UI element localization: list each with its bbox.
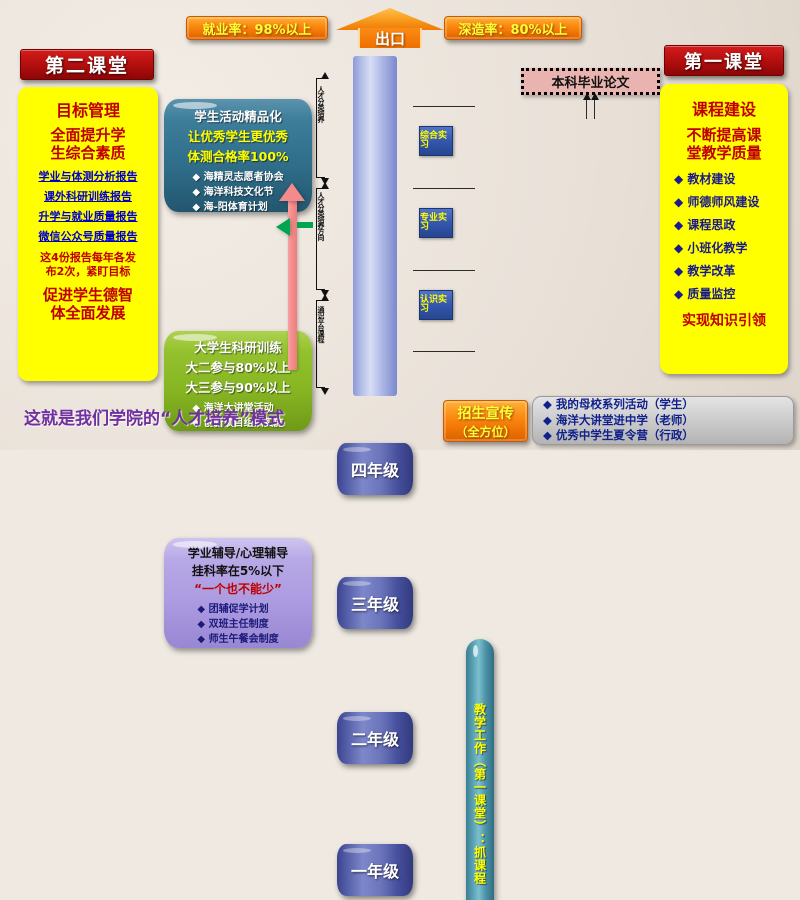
goal-panel-title: 目标管理 [56, 97, 120, 121]
counseling-head-1: 学业辅导/心理辅导 [188, 544, 288, 561]
pink-up-arrow-icon [279, 183, 305, 201]
employment-rate-banner: 就业率：98%以上 [186, 16, 328, 40]
activities-head-3: 体测合格率100% [187, 146, 288, 165]
bracket-lower-arrow-icon [321, 294, 329, 301]
bracket-upper-arrow-icon [321, 72, 329, 79]
report-link-1[interactable]: 学业与体测分析报告 [39, 168, 138, 184]
diamond-icon: ◆ [543, 428, 552, 442]
activities-head-1: 学生活动精品化 [194, 106, 282, 125]
counseling-head-2: 挂科率在5%以下 [192, 562, 284, 579]
internship-comprehensive-label: 综合实习 [420, 132, 452, 151]
bracket-middle-arrow-icon [321, 182, 329, 189]
diamond-icon: ◆ [197, 604, 205, 615]
teaching-work-pillar: 教学工作（第一课堂）：抓课程 [466, 639, 494, 900]
course-item-6: ◆ 质量监控 [674, 285, 759, 302]
report-link-4[interactable]: 微信公众号质量报告 [39, 228, 138, 244]
course-construction-panel: 课程建设 不断提高课 堂教学质量 ◆ 教材建设 ◆ 师德师风建设 ◆ 课程思政 … [660, 84, 788, 374]
internship-chip-comprehensive[interactable]: 综合实习 [419, 126, 453, 156]
diamond-icon: ◆ [674, 172, 683, 186]
course-item-5: ◆ 教学改革 [674, 262, 759, 279]
postgrad-rate-banner: 深造率：80%以上 [444, 16, 582, 40]
course-panel-sub1: 不断提高课 [686, 126, 761, 144]
second-classroom-label: 第二课堂 [45, 51, 129, 78]
thesis-feed-line-1 [586, 97, 587, 119]
course-item-1: ◆ 教材建设 [674, 170, 759, 187]
postgrad-rate-text: 深造率：80%以上 [458, 19, 567, 38]
exit-label: 出口 [375, 28, 405, 49]
green-left-arrow-icon [276, 218, 290, 236]
grade-drum-year1[interactable]: 一年级 [337, 844, 413, 896]
research-head-1: 大学生科研训练 [194, 337, 282, 356]
grade-drum-year3[interactable]: 三年级 [337, 577, 413, 629]
diamond-icon: ◆ [192, 172, 200, 183]
activities-head-2: 让优秀学生更优秀 [188, 126, 288, 145]
first-classroom-plaque: 第一课堂 [664, 45, 784, 76]
research-head-2: 大二参与80%以上 [186, 357, 291, 376]
research-item-3: ◆ 毕业论文方舟计划 [192, 429, 283, 431]
activities-item-2: ◆ 海洋科技文化节 [192, 183, 283, 198]
counseling-item-4: ◆ 新生领航计划 [197, 645, 278, 648]
goal-footer-line2: 体全面发展 [50, 304, 125, 323]
grade-year1-label: 一年级 [351, 858, 399, 882]
academic-counseling-card: 学业辅导/心理辅导 挂科率在5%以下 “一个也不能少” ◆ 团辅促学计划 ◆ 双… [164, 538, 312, 648]
goal-management-panel: 目标管理 全面提升学 生综合素质 学业与体测分析报告 课外科研训练报告 升学与就… [18, 87, 158, 381]
outreach-item-1: ◆ 我的母校系列活动（学生） [543, 397, 694, 413]
diamond-icon: ◆ [674, 287, 683, 301]
connector-year2 [413, 270, 475, 271]
bracket-middle-label: 人才分类培养方向 [316, 192, 326, 288]
thesis-feed-arrow-1-icon [583, 93, 591, 100]
diamond-icon: ◆ [674, 264, 683, 278]
first-classroom-label: 第一课堂 [684, 48, 764, 74]
goal-footer-line1: 促进学生德智 [43, 286, 133, 305]
slide-canvas: 就业率：98%以上 深造率：80%以上 出口 第二课堂 目标管理 全面提升学 生… [0, 0, 800, 450]
course-panel-title: 课程建设 [692, 96, 756, 120]
bracket-upper-label: 人才分类培养 [316, 86, 326, 176]
connector-year3 [413, 188, 475, 189]
grade-year2-label: 二年级 [351, 726, 399, 750]
report-link-3[interactable]: 升学与就业质量报告 [39, 208, 138, 224]
green-feed-bar [297, 222, 313, 228]
thesis-feed-arrow-2-icon [591, 93, 599, 100]
employment-rate-text: 就业率：98%以上 [202, 19, 311, 38]
exit-label-wrap: 出口 [358, 28, 423, 48]
grade-stack-shaft [353, 56, 397, 396]
diamond-icon: ◆ [543, 397, 552, 411]
grade-year3-label: 三年级 [351, 591, 399, 615]
research-head-3: 大三参与90%以上 [186, 377, 291, 396]
activities-item-1: ◆ 海精灵志愿者协会 [192, 168, 283, 183]
bracket-lower-label: 通识平台课程 [316, 306, 326, 386]
internship-cognitive-label: 认识实习 [420, 296, 452, 315]
recruitment-line2: （全方位） [455, 423, 515, 440]
exit-arrow: 出口 [336, 8, 444, 48]
recruitment-line1: 招生宣传 [458, 403, 514, 423]
teaching-work-label: 教学工作（第一课堂）：抓课程 [472, 703, 489, 885]
reports-note-line2: 布2次，紧盯目标 [46, 265, 131, 279]
internship-chip-professional[interactable]: 专业实习 [419, 208, 453, 238]
diamond-icon: ◆ [192, 202, 200, 212]
course-item-4: ◆ 小班化教学 [674, 239, 759, 256]
outreach-item-3: ◆ 优秀中学生夏令营（行政） [543, 428, 694, 444]
recruitment-banner: 招生宣传 （全方位） [443, 400, 528, 442]
thesis-feed-line-2 [594, 97, 595, 119]
diamond-icon: ◆ [674, 218, 683, 232]
thesis-box: 本科毕业论文 [521, 68, 660, 95]
internship-professional-label: 专业实习 [420, 214, 452, 233]
diamond-icon: ◆ [197, 619, 205, 630]
goal-panel-sub2: 生综合素质 [50, 144, 125, 162]
diamond-icon: ◆ [674, 195, 683, 209]
diamond-icon: ◆ [674, 241, 683, 255]
outreach-item-2: ◆ 海洋大讲堂进中学（老师） [543, 413, 694, 429]
diamond-icon: ◆ [543, 413, 552, 427]
course-item-2: ◆ 师德师风建设 [674, 193, 759, 210]
counseling-item-1: ◆ 团辅促学计划 [197, 600, 278, 615]
bracket-lower-arrow-down-icon [321, 388, 329, 395]
goal-panel-sub1: 全面提升学 [50, 126, 125, 144]
second-classroom-plaque: 第二课堂 [20, 49, 154, 80]
grade-drum-year2[interactable]: 二年级 [337, 712, 413, 764]
diamond-icon: ◆ [197, 634, 205, 645]
course-item-3: ◆ 课程思政 [674, 216, 759, 233]
counseling-item-2: ◆ 双班主任制度 [197, 615, 278, 630]
grade-drum-year4[interactable]: 四年级 [337, 443, 413, 495]
internship-chip-cognitive[interactable]: 认识实习 [419, 290, 453, 320]
connector-year4 [413, 106, 475, 107]
diamond-icon: ◆ [192, 187, 200, 198]
course-panel-sub2: 堂教学质量 [686, 144, 761, 162]
connector-year1 [413, 351, 475, 352]
reports-note-line1: 这4份报告每年各发 [40, 251, 136, 265]
counseling-item-3: ◆ 师生午餐会制度 [197, 630, 278, 645]
activities-item-3: ◆ 海-阳体育计划 [192, 198, 283, 212]
report-link-2[interactable]: 课外科研训练报告 [44, 188, 132, 204]
thesis-label: 本科毕业论文 [551, 72, 629, 91]
counseling-head-3: “一个也不能少” [194, 580, 282, 597]
footer-slogan: 这就是我们学院的“人才培养”模式 [24, 404, 324, 429]
outreach-list: ◆ 我的母校系列活动（学生） ◆ 海洋大讲堂进中学（老师） ◆ 优秀中学生夏令营… [532, 396, 794, 445]
grade-year4-label: 四年级 [351, 457, 399, 481]
course-panel-footer: 实现知识引领 [682, 310, 766, 330]
